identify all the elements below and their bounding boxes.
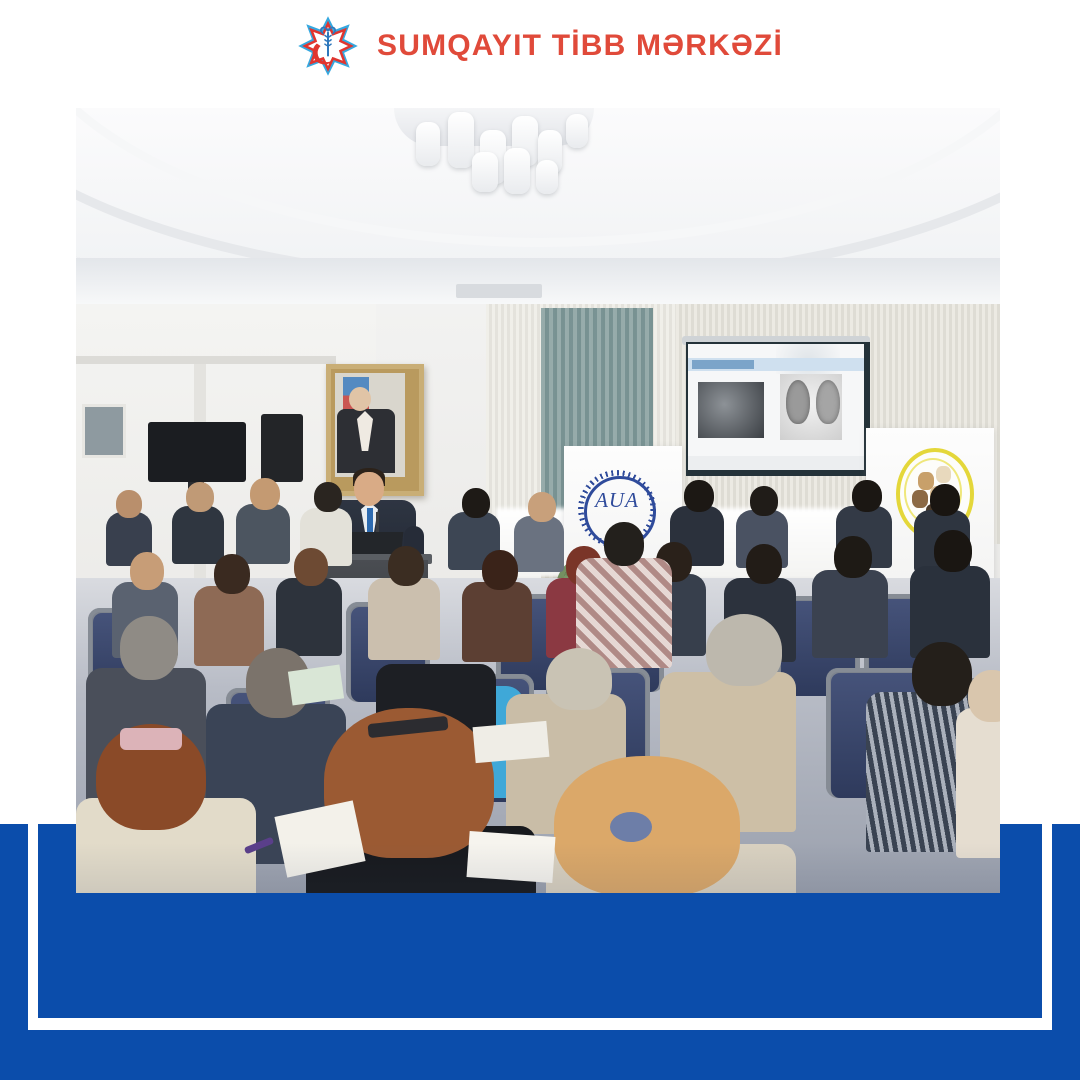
slide-title-text (692, 360, 754, 369)
slide-ultrasound-image (698, 382, 764, 438)
attendee-head (912, 642, 972, 706)
portrait-head (349, 387, 371, 411)
attendee-head (604, 522, 644, 566)
attendee-head (482, 550, 518, 590)
attendee-torso (812, 570, 888, 658)
hair-clip-icon (120, 728, 182, 750)
attendee-head (130, 552, 164, 590)
attendee-head (684, 480, 714, 512)
eight-point-star-caduceus-icon (297, 15, 359, 77)
attendee-torso (368, 578, 440, 660)
attendee-head (852, 480, 882, 512)
arta-cluster-icon (912, 490, 928, 508)
attendee-torso (172, 506, 224, 564)
header: SUMQAYIT TİBB MƏRKƏZİ (0, 0, 1080, 92)
attendee-head (834, 536, 872, 578)
attendee-torso (276, 578, 342, 656)
photo-bottom-fade (76, 843, 1000, 893)
attendee-head (930, 484, 960, 516)
arta-cluster-icon (936, 466, 951, 483)
poster-canvas: SUMQAYIT TİBB MƏRKƏZİ (0, 0, 1080, 1080)
chandelier-tube (416, 122, 440, 166)
attendee-head (462, 488, 490, 518)
attendee-torso (956, 708, 1000, 858)
slide-kidney-right (816, 380, 840, 424)
attendee-torso (462, 582, 532, 662)
slide-footer (688, 456, 864, 470)
brand-title: SUMQAYIT TİBB MƏRKƏZİ (377, 31, 783, 61)
brand-logo (297, 15, 359, 77)
attendee-head (968, 670, 1000, 722)
attendee-torso (514, 516, 564, 572)
chandelier-tube (536, 160, 558, 194)
attendee-torso (194, 586, 264, 666)
chandelier-tube (566, 114, 588, 148)
attendee-head (186, 482, 214, 512)
event-photo: AUA 2004 AZƏRBAYCAN UROLOGİYA ASSOSİASİY… (76, 108, 1000, 893)
attendee-head-blonde (546, 648, 612, 710)
attendee-head (314, 482, 342, 512)
speaker-head (354, 472, 384, 506)
attendee-head (214, 554, 250, 594)
slide-kidney-left (786, 380, 810, 424)
hair-tie-icon (610, 812, 652, 842)
aua-logo-text: AUA (584, 490, 650, 511)
attendee-head (934, 530, 972, 572)
paper-note (473, 721, 550, 763)
attendee-head (294, 548, 328, 586)
attendee-head (116, 490, 142, 518)
wall-trim (76, 356, 336, 364)
chandelier-tube (504, 148, 530, 194)
attendee-head-grey (706, 614, 782, 686)
chandelier-tube (448, 112, 474, 168)
ceiling-vent (456, 284, 542, 298)
paper-note (288, 665, 344, 706)
attendee-torso (236, 504, 290, 564)
wall-monitor-large (148, 422, 246, 482)
chandelier-tube (472, 152, 498, 192)
attendee-head (120, 616, 178, 680)
attendee-head (250, 478, 280, 510)
attendee-head (750, 486, 778, 516)
wall-speaker-box (261, 414, 303, 482)
attendee-head (388, 546, 424, 586)
attendee-head (528, 492, 556, 522)
attendee-head (746, 544, 782, 584)
wall-picture (82, 404, 126, 458)
